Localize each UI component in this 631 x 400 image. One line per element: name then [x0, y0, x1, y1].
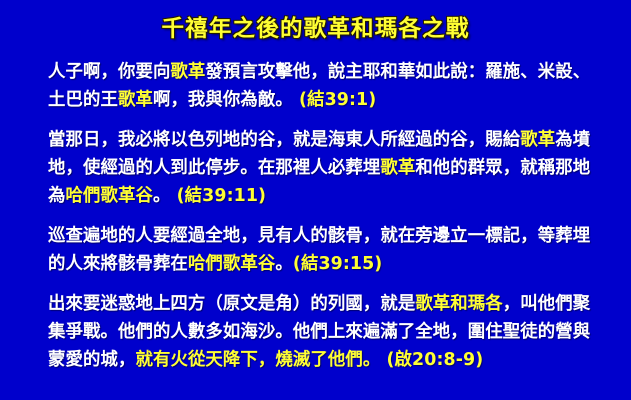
- highlighted-text: (結39:11): [170, 186, 266, 206]
- body-text: 當那日，我必將以色列地的谷，就是海東人所經過的谷，賜給: [48, 130, 520, 150]
- body-text: 。: [275, 254, 293, 274]
- highlighted-text: 歌革: [170, 62, 205, 82]
- highlighted-text: 哈們歌革谷: [188, 254, 275, 274]
- highlighted-text: 歌革: [118, 90, 153, 110]
- scripture-paragraph: 出來要迷惑地上四方（原文是角）的列國，就是歌革和瑪各，叫他們聚集爭戰。他們的人數…: [48, 290, 593, 374]
- body-text: 啊，我與你為敵。: [153, 90, 293, 110]
- highlighted-text: 歌革: [380, 158, 415, 178]
- scripture-paragraph: 巡查遍地的人要經過全地，見有人的骸骨，就在旁邊立一標記，等葬埋的人來將骸骨葬在哈…: [48, 222, 593, 278]
- body-text: 出來要迷惑地上四方（原文是角）的列國，就是: [48, 294, 415, 314]
- highlighted-text: (啟20:8-9): [380, 350, 483, 370]
- scripture-paragraph: 當那日，我必將以色列地的谷，就是海東人所經過的谷，賜給歌革為墳地，使經過的人到此…: [48, 126, 593, 210]
- highlighted-text: 歌革和瑪各: [415, 294, 502, 314]
- highlighted-text: 歌革: [520, 130, 555, 150]
- page-title: 千禧年之後的歌革和瑪各之戰: [0, 17, 631, 42]
- highlighted-text: 就有火從天降下，燒滅了他們。: [135, 350, 380, 370]
- scripture-body: 人子啊，你要向歌革發預言攻擊他，說主耶和華如此說：羅施、米設、土巴的王歌革啊，我…: [48, 58, 593, 374]
- body-text: 。: [153, 186, 171, 206]
- highlighted-text: 哈們歌革谷: [66, 186, 153, 206]
- slide-canvas: 千禧年之後的歌革和瑪各之戰 人子啊，你要向歌革發預言攻擊他，說主耶和華如此說：羅…: [0, 0, 631, 400]
- highlighted-text: (結39:15): [293, 254, 382, 274]
- scripture-paragraph: 人子啊，你要向歌革發預言攻擊他，說主耶和華如此說：羅施、米設、土巴的王歌革啊，我…: [48, 58, 593, 114]
- highlighted-text: (結39:1): [293, 90, 376, 110]
- body-text: 人子啊，你要向: [48, 62, 170, 82]
